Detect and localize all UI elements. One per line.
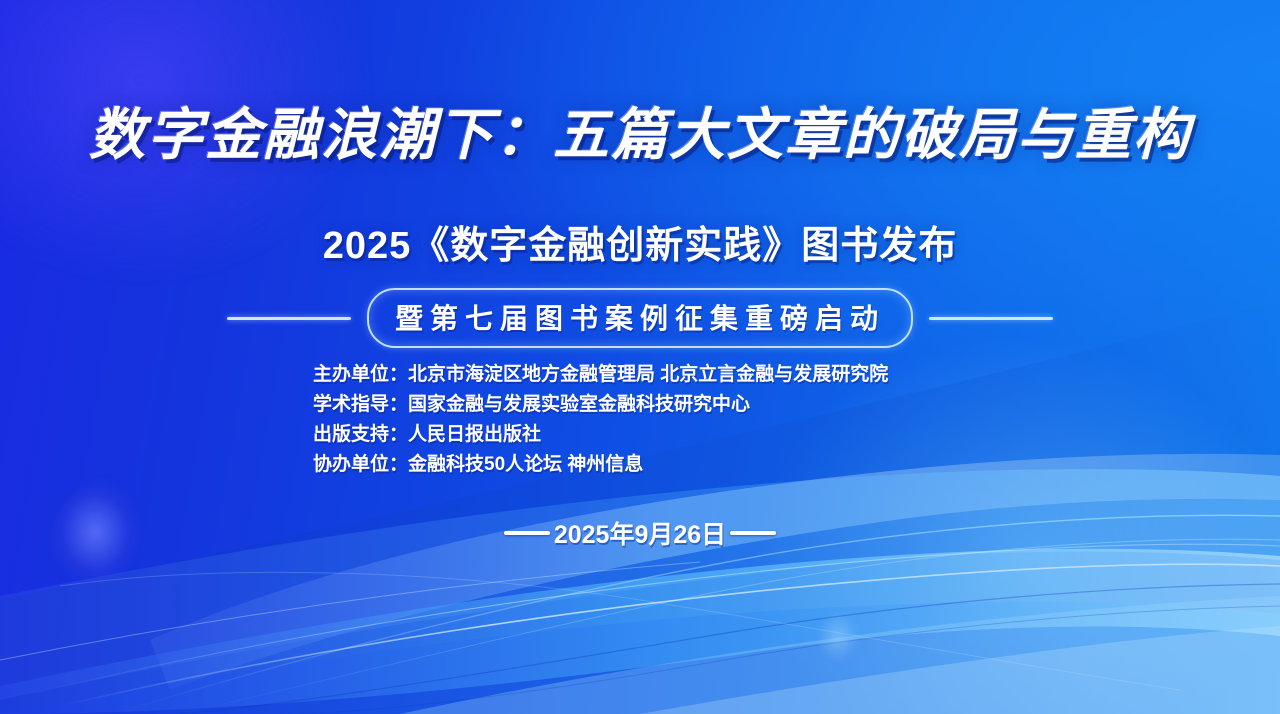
credit-line-co-organizer: 协办单位：金融科技50人论坛 神州信息 [313, 450, 888, 480]
page-subtitle: 2025《数字金融创新实践》图书发布 [0, 214, 1280, 269]
page-title: 数字金融浪潮下：五篇大文章的破局与重构 [0, 106, 1280, 165]
date-dash-right [730, 531, 776, 535]
banner-row: 暨第七届图书案例征集重磅启动 [0, 288, 1280, 348]
banner-badge: 暨第七届图书案例征集重磅启动 [367, 288, 913, 348]
credit-line-academic: 学术指导：国家金融与发展实验室金融科技研究中心 [313, 390, 888, 420]
date-row: 2025年9月26日 [0, 515, 1280, 551]
rule-right [929, 317, 1053, 320]
credit-line-publisher: 出版支持：人民日报出版社 [313, 420, 888, 450]
credits-block: 主办单位：北京市海淀区地方金融管理局 北京立言金融与发展研究院 学术指导：国家金… [313, 360, 888, 480]
event-date: 2025年9月26日 [554, 515, 726, 551]
poster-canvas: 数字金融浪潮下：五篇大文章的破局与重构 2025《数字金融创新实践》图书发布 暨… [0, 0, 1280, 714]
credit-line-organizer: 主办单位：北京市海淀区地方金融管理局 北京立言金融与发展研究院 [313, 360, 888, 390]
rule-left [227, 317, 351, 320]
date-dash-left [504, 531, 550, 535]
